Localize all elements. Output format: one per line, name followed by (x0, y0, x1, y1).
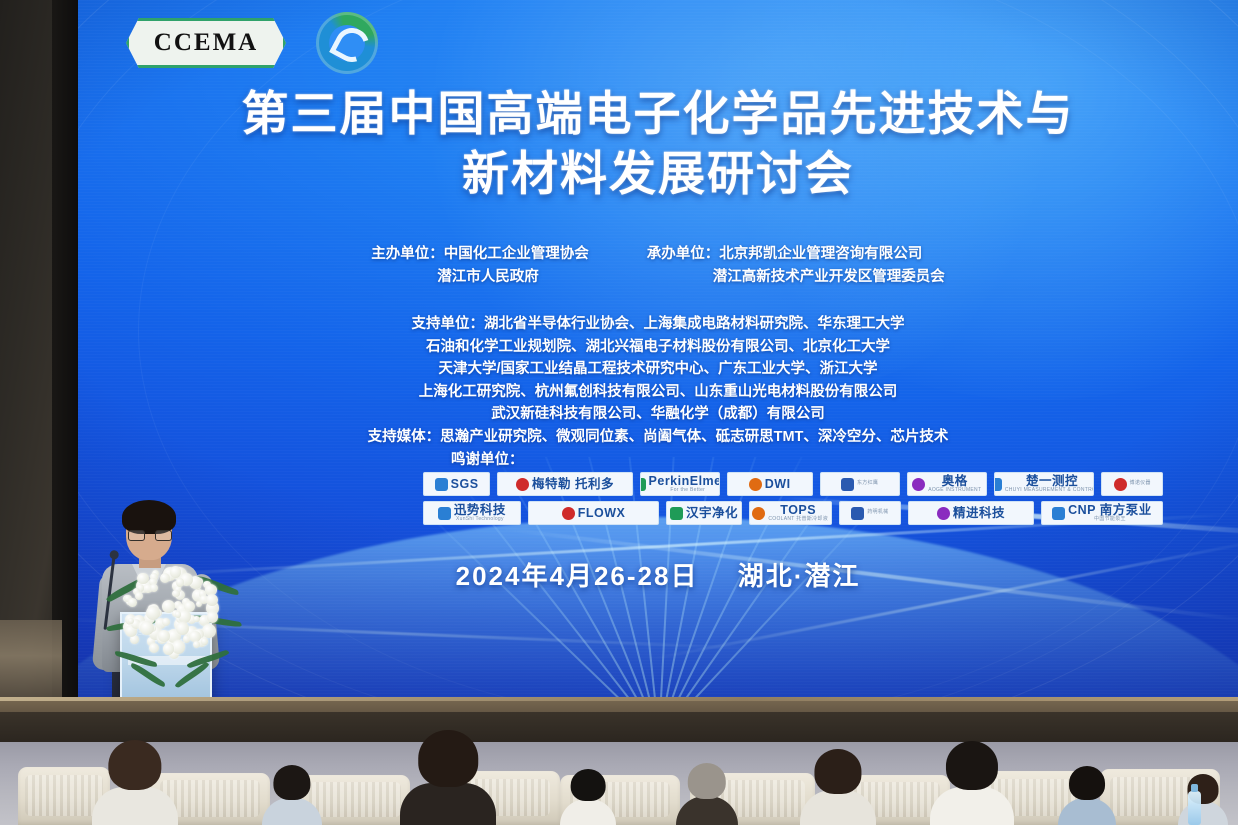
attendee-1-torso (92, 787, 178, 825)
organizer-block: 主办单位：中国化工企业管理协会 潜江市人民政府 承办单位：北京邦凯企业管理咨询有… (78, 243, 1238, 289)
bouquet-flower (128, 598, 137, 607)
jingjin-technology-mark-icon (937, 507, 950, 520)
attendee-2-head (273, 765, 310, 800)
sponsor-logo-perkinelmer: PerkinElmerFor the Better (640, 472, 720, 496)
attendee-2 (262, 743, 322, 825)
event-city: 湖北·潜江 (738, 561, 861, 591)
bouquet-flower (175, 611, 182, 618)
bouquet-flower (201, 638, 207, 644)
sponsor-logo-tops-coolant: TOPSCOOLANT 托普斯冷却液 (749, 501, 832, 525)
sponsor-logo-bonuo-instrument: 博诺仪器 (1101, 472, 1163, 496)
co-host-column: 承办单位：北京邦凯企业管理咨询有限公司 潜江高新技术产业开发区管理委员会 (647, 243, 945, 289)
hanyu-purification-label: 汉宇净化 (686, 507, 738, 520)
cnp-nanfang-pump-label: CNP 南方泵业 (1068, 504, 1152, 517)
attendee-9 (1178, 741, 1228, 825)
support-line-5: 武汉新硅科技有限公司、华融化学（成都）有限公司 (78, 403, 1238, 426)
attendee-5 (676, 745, 738, 825)
ccema-circle-emblem-icon (316, 12, 378, 74)
attendee-8-torso (1058, 798, 1116, 825)
bouquet-flower (140, 621, 154, 635)
attendee-5-torso (676, 796, 738, 825)
sponsor-logo-grid: SGS梅特勒 托利多PerkinElmerFor the BetterDWI东方… (423, 472, 1163, 530)
speaker-glasses-icon (128, 530, 172, 541)
thanks-label: 鸣谢单位： (78, 449, 1238, 472)
yaoming-machinery-mark-icon (851, 507, 864, 520)
tops-coolant-sublabel: COOLANT 托普斯冷却液 (768, 517, 828, 522)
bonuo-instrument-mark-icon (1114, 478, 1127, 491)
bouquet-flower (160, 573, 170, 583)
support-line-4: 上海化工研究院、杭州氟创科技有限公司、山东重山光电材料股份有限公司 (78, 381, 1238, 404)
red-bird-brand-mark-icon (841, 478, 854, 491)
sponsor-logo-cnp-nanfang-pump: CNP 南方泵业中国节能泵王 (1041, 501, 1163, 525)
red-bird-brand-sublabel: 东方红鹰 (857, 481, 878, 486)
sgs-mark-icon (435, 478, 448, 491)
attendee-2-torso (262, 798, 322, 825)
xunshi-technology-label: 迅势科技 (454, 504, 506, 517)
bouquet-flower (193, 641, 200, 648)
bouquet-flower (137, 573, 148, 584)
speaker-hair (122, 500, 176, 534)
aoge-label: 奥格 (942, 475, 968, 488)
cnp-nanfang-pump-sublabel: 中国节能泵王 (1094, 517, 1126, 522)
slide-title: 第三届中国高端电子化学品先进技术与 新材料发展研讨会 (78, 84, 1238, 204)
jingjin-technology-label: 精进科技 (953, 507, 1005, 520)
attendee-8 (1058, 739, 1116, 825)
sponsor-logo-jingjin-technology: 精进科技 (908, 501, 1034, 525)
chuyi-measurement-sublabel: CHUYI MEASUREMENT & CONTROL (1005, 488, 1094, 493)
support-block: 支持单位：湖北省半导体行业协会、上海集成电路材料研究院、华东理工大学 石油和化学… (78, 313, 1238, 471)
support-line-2: 石油和化学工业规划院、湖北兴福电子材料股份有限公司、北京化工大学 (78, 336, 1238, 359)
bouquet-flower (162, 618, 170, 626)
hall-side-wall-base (0, 620, 62, 700)
attendee-3-torso (400, 783, 496, 825)
cnp-nanfang-pump-mark-icon (1052, 507, 1065, 520)
bouquet-flower (149, 643, 159, 653)
sponsor-logo-aoge: 奥格AOGE INSTRUMENT (907, 472, 987, 496)
attendee-6-torso (800, 790, 876, 825)
slide-title-line-2: 新材料发展研讨会 (78, 144, 1238, 204)
perkinelmer-mark-icon (640, 478, 646, 491)
sponsor-logo-red-bird-brand: 东方红鹰 (820, 472, 900, 496)
bouquet-flower (150, 584, 158, 592)
ccema-logo: CCEMA (126, 18, 286, 68)
dwi-mark-icon (749, 478, 762, 491)
sgs-label: SGS (451, 478, 479, 491)
host-line-1: 主办单位：中国化工企业管理协会 (371, 243, 589, 266)
sponsor-row-1: SGS梅特勒 托利多PerkinElmerFor the BetterDWI东方… (423, 472, 1163, 496)
flower-bouquet (108, 560, 234, 685)
sponsor-logo-yaoming-machinery: 药明机械 (839, 501, 901, 525)
co-host-line-2: 潜江高新技术产业开发区管理委员会 (647, 266, 945, 289)
flowx-mark-icon (562, 507, 575, 520)
sponsor-logo-xunshi-technology: 迅势科技XunShi Technology (423, 501, 521, 525)
bouquet-flower (163, 643, 174, 654)
bouquet-flower (202, 624, 216, 638)
sponsor-logo-chuyi-measurement: 楚一测控CHUYI MEASUREMENT & CONTROL (994, 472, 1094, 496)
attendee-4-torso (560, 799, 616, 825)
attendee-3-head (418, 730, 478, 787)
chuyi-measurement-label: 楚一测控 (1026, 475, 1078, 488)
attendee-7 (930, 739, 1014, 825)
slide-logos: CCEMA (126, 12, 378, 74)
xunshi-technology-mark-icon (438, 507, 451, 520)
hanyu-purification-mark-icon (670, 507, 683, 520)
support-line-3: 天津大学/国家工业结晶工程技术研究中心、广东工业大学、浙江大学 (78, 358, 1238, 381)
slide-content: CCEMA 第三届中国高端电子化学品先进技术与 新材料发展研讨会 主办单位：中国… (78, 0, 1238, 697)
support-line-1: 支持单位：湖北省半导体行业协会、上海集成电路材料研究院、华东理工大学 (78, 313, 1238, 336)
aoge-sublabel: AOGE INSTRUMENT (928, 488, 981, 493)
sponsor-row-2: 迅势科技XunShi TechnologyFLOWX汉宇净化TOPSCOOLAN… (423, 501, 1163, 525)
sponsor-logo-hanyu-purification: 汉宇净化 (666, 501, 741, 525)
attendee-5-head (688, 763, 726, 800)
bouquet-flower (196, 601, 202, 607)
chuyi-measurement-mark-icon (994, 478, 1002, 491)
bonuo-instrument-sublabel: 博诺仪器 (1130, 481, 1151, 486)
sponsor-logo-sgs: SGS (423, 472, 490, 496)
slide-title-line-1: 第三届中国高端电子化学品先进技术与 (78, 84, 1238, 144)
aoge-mark-icon (912, 478, 925, 491)
attendee-8-head (1069, 766, 1105, 800)
tops-coolant-label: TOPS (780, 504, 816, 517)
attendee-1 (92, 737, 178, 825)
attendee-6 (800, 741, 876, 825)
yaoming-machinery-sublabel: 药明机械 (867, 510, 888, 515)
media-line: 支持媒体：思瀚产业研究院、微观同位素、尚阖气体、砥志研思TMT、深冷空分、芯片技… (78, 426, 1238, 449)
water-bottle (1188, 791, 1201, 825)
bouquet-flower (172, 590, 179, 597)
bouquet-flower (193, 616, 199, 622)
audience-area (0, 742, 1238, 825)
dwi-label: DWI (765, 478, 791, 491)
attendee-7-torso (930, 787, 1014, 825)
host-column: 主办单位：中国化工企业管理协会 潜江市人民政府 (371, 243, 589, 289)
flowx-label: FLOWX (578, 507, 626, 520)
attendee-4 (560, 743, 616, 825)
tops-coolant-mark-icon (752, 507, 765, 520)
sponsor-logo-dwi: DWI (727, 472, 813, 496)
attendee-9-torso (1178, 801, 1228, 825)
xunshi-technology-sublabel: XunShi Technology (456, 517, 504, 522)
attendee-1-head (108, 740, 161, 791)
mettler-toledo-label: 梅特勒 托利多 (532, 478, 614, 491)
perkinelmer-sublabel: For the Better (670, 488, 705, 493)
attendee-6-head (814, 749, 861, 794)
bouquet-flower (146, 606, 160, 620)
co-host-line-1: 承办单位：北京邦凯企业管理咨询有限公司 (647, 243, 945, 266)
event-date: 2024年4月26-28日 (456, 561, 699, 591)
bouquet-flower (176, 622, 189, 635)
sponsor-logo-flowx: FLOWX (528, 501, 659, 525)
event-date-line: 2024年4月26-28日 湖北·潜江 (78, 556, 1238, 593)
perkinelmer-label: PerkinElmer (649, 475, 720, 488)
attendee-3 (400, 735, 496, 825)
conference-photo: CCEMA 第三届中国高端电子化学品先进技术与 新材料发展研讨会 主办单位：中国… (0, 0, 1238, 825)
attendee-7-head (946, 741, 998, 790)
host-line-2: 潜江市人民政府 (371, 266, 589, 289)
mettler-toledo-mark-icon (516, 478, 529, 491)
led-presentation-screen: CCEMA 第三届中国高端电子化学品先进技术与 新材料发展研讨会 主办单位：中国… (78, 0, 1238, 697)
hall-side-wall (0, 0, 78, 700)
attendee-4-head (571, 769, 606, 802)
sponsor-logo-mettler-toledo: 梅特勒 托利多 (497, 472, 632, 496)
